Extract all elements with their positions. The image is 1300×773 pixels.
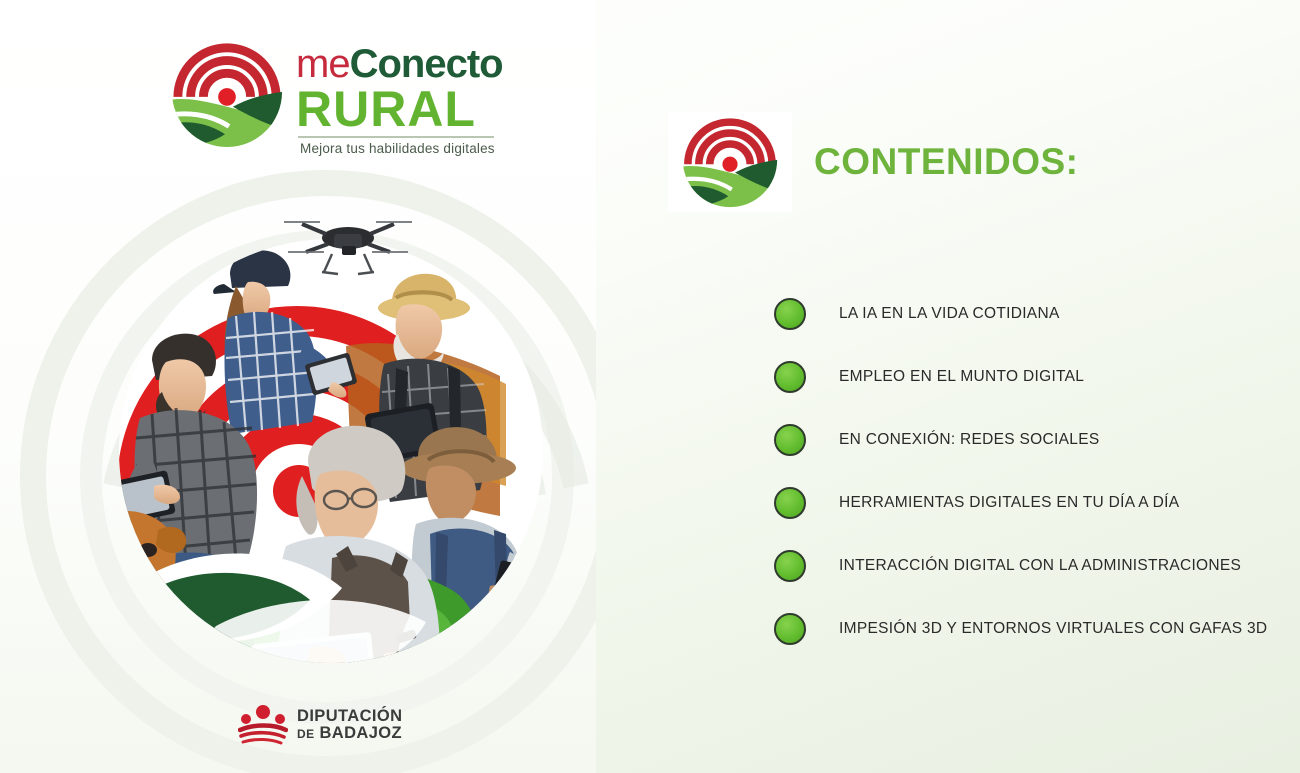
brand-tagline: Mejora tus habilidades digitales — [300, 141, 503, 156]
list-item-label: HERRAMIENTAS DIGITALES EN TU DÍA A DÍA — [839, 494, 1179, 512]
list-item-label: IMPESIÓN 3D Y ENTORNOS VIRTUALES CON GAF… — [839, 620, 1267, 638]
brand-wordmark: meConecto RURAL Mejora tus habilidades d… — [296, 36, 503, 156]
slide-canvas: meConecto RURAL Mejora tus habilidades d… — [0, 0, 1300, 773]
brand-line-1: meConecto — [296, 44, 503, 84]
diputacion-line-1: DIPUTACIÓN — [297, 708, 402, 725]
list-item-label: LA IA EN LA VIDA COTIDIANA — [839, 305, 1060, 323]
list-item: HERRAMIENTAS DIGITALES EN TU DÍA A DÍA — [774, 471, 1274, 534]
meconecto-rural-logo-icon-small — [676, 112, 784, 213]
brand-rural: RURAL — [296, 84, 503, 134]
diputacion-badajoz: BADAJOZ — [319, 724, 402, 742]
bullet-icon — [774, 424, 806, 456]
diputacion-line-2: DE BADAJOZ — [297, 725, 402, 742]
diputacion-badajoz-icon — [238, 703, 288, 747]
contenidos-header: CONTENIDOS: — [668, 112, 1079, 212]
list-item-label: EMPLEO EN EL MUNTO DIGITAL — [839, 368, 1084, 386]
bullet-icon — [774, 550, 806, 582]
list-item: LA IA EN LA VIDA COTIDIANA — [774, 282, 1274, 345]
list-item: IMPESIÓN 3D Y ENTORNOS VIRTUALES CON GAF… — [774, 597, 1274, 660]
contents-list: LA IA EN LA VIDA COTIDIANA EMPLEO EN EL … — [774, 282, 1274, 660]
meconecto-rural-logo-icon — [168, 36, 286, 148]
brand-me: me — [296, 42, 350, 86]
left-panel: meConecto RURAL Mejora tus habilidades d… — [0, 0, 596, 773]
bullet-icon — [774, 298, 806, 330]
page-title: CONTENIDOS: — [814, 141, 1079, 183]
rural-digital-people-collage — [96, 186, 596, 686]
brand-conecto: Conecto — [350, 42, 503, 86]
diputacion-de: DE — [297, 727, 314, 741]
bullet-icon — [774, 361, 806, 393]
diputacion-badajoz-logo: DIPUTACIÓN DE BADAJOZ — [238, 703, 402, 747]
list-item: INTERACCIÓN DIGITAL CON LA ADMINISTRACIO… — [774, 534, 1274, 597]
header-logo-box — [668, 112, 792, 212]
bullet-icon — [774, 487, 806, 519]
list-item: EMPLEO EN EL MUNTO DIGITAL — [774, 345, 1274, 408]
bullet-icon — [774, 613, 806, 645]
brand-logo: meConecto RURAL Mejora tus habilidades d… — [168, 36, 503, 156]
list-item: EN CONEXIÓN: REDES SOCIALES — [774, 408, 1274, 471]
list-item-label: EN CONEXIÓN: REDES SOCIALES — [839, 431, 1099, 449]
list-item-label: INTERACCIÓN DIGITAL CON LA ADMINISTRACIO… — [839, 557, 1241, 575]
diputacion-badajoz-wordmark: DIPUTACIÓN DE BADAJOZ — [297, 708, 402, 742]
